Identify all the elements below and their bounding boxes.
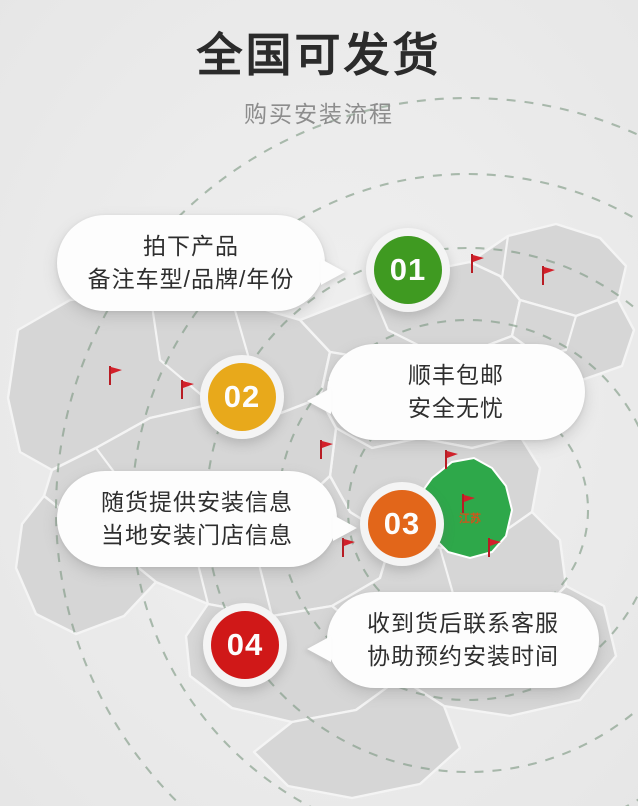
flag-icon bbox=[485, 536, 503, 558]
step-bubble-4[interactable]: 收到货后联系客服 协助预约安装时间 bbox=[327, 592, 599, 688]
page-subtitle: 购买安装流程 bbox=[0, 95, 638, 129]
step-marker-02[interactable]: 02 bbox=[200, 355, 284, 439]
step-02-number: 02 bbox=[224, 379, 260, 415]
step-03-disc: 03 bbox=[368, 490, 436, 558]
poster-header: 全国可发货 购买安装流程 bbox=[0, 0, 638, 129]
bubble-1-line-1: 拍下产品 bbox=[143, 230, 239, 263]
step-marker-01[interactable]: 01 bbox=[366, 228, 450, 312]
flag-icon bbox=[317, 438, 335, 460]
flag-icon bbox=[459, 492, 477, 514]
flag-icon bbox=[539, 264, 557, 286]
bubble-tail-left bbox=[307, 388, 331, 414]
bubble-3-line-1: 随货提供安装信息 bbox=[101, 486, 293, 519]
step-marker-03[interactable]: 03 bbox=[360, 482, 444, 566]
step-01-number: 01 bbox=[390, 252, 426, 288]
flag-icon bbox=[468, 252, 486, 274]
step-02-disc: 02 bbox=[208, 363, 276, 431]
flag-icon bbox=[442, 448, 460, 470]
bubble-tail-right bbox=[321, 259, 345, 285]
promo-poster: 江苏 bbox=[0, 0, 638, 806]
step-marker-04[interactable]: 04 bbox=[203, 603, 287, 687]
bubble-4-line-2: 协助预约安装时间 bbox=[367, 640, 559, 673]
bubble-4-line-1: 收到货后联系客服 bbox=[367, 607, 559, 640]
page-title: 全国可发货 bbox=[0, 30, 638, 81]
flag-icon bbox=[178, 378, 196, 400]
bubble-2-line-2: 安全无忧 bbox=[408, 392, 504, 425]
flag-icon bbox=[106, 364, 124, 386]
step-04-number: 04 bbox=[227, 627, 263, 663]
step-bubble-3[interactable]: 随货提供安装信息 当地安装门店信息 bbox=[57, 471, 337, 567]
step-04-disc: 04 bbox=[211, 611, 279, 679]
step-bubble-1[interactable]: 拍下产品 备注车型/品牌/年份 bbox=[57, 215, 325, 311]
bubble-2-line-1: 顺丰包邮 bbox=[408, 359, 504, 392]
step-bubble-2[interactable]: 顺丰包邮 安全无忧 bbox=[327, 344, 585, 440]
step-03-number: 03 bbox=[384, 506, 420, 542]
bubble-tail-right bbox=[333, 515, 357, 541]
bubble-1-line-2: 备注车型/品牌/年份 bbox=[88, 263, 295, 296]
step-01-disc: 01 bbox=[374, 236, 442, 304]
bubble-tail-left bbox=[307, 636, 331, 662]
bubble-3-line-2: 当地安装门店信息 bbox=[101, 519, 293, 552]
